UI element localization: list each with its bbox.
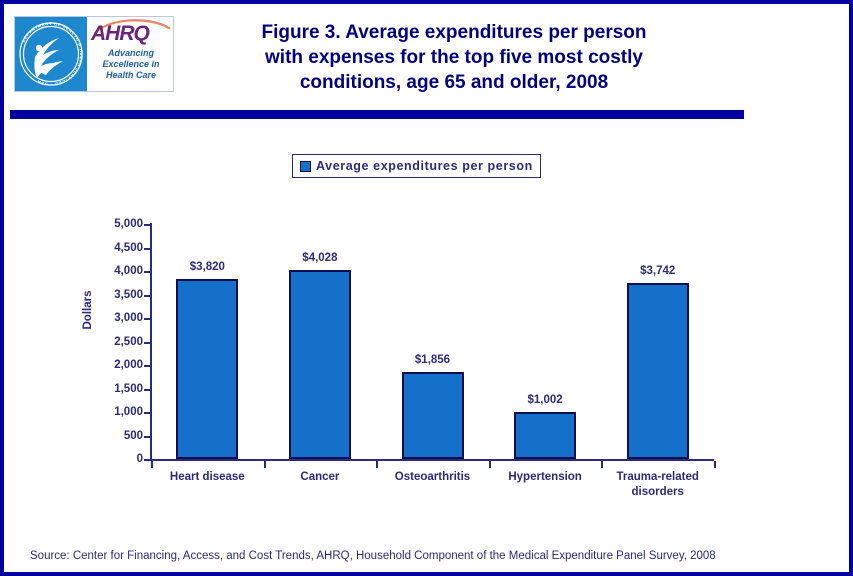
x-axis-category-label: Osteoarthritis xyxy=(373,470,493,485)
y-axis-tick-label: 3,500 xyxy=(99,289,143,301)
y-axis-tick-label: 2,500 xyxy=(99,336,143,348)
x-axis-tick-mark xyxy=(601,461,603,468)
bar xyxy=(402,372,464,459)
y-axis-tick-mark xyxy=(144,248,151,250)
y-axis-title: Dollars xyxy=(82,270,94,350)
y-axis-tick-label: 5,000 xyxy=(99,218,143,230)
y-axis-tick-labels: 5,0004,5004,0003,5003,0002,5002,0001,500… xyxy=(99,4,143,572)
x-axis-category-label: Trauma-relateddisorders xyxy=(598,470,718,500)
y-axis-tick-label: 4,500 xyxy=(99,242,143,254)
y-axis-tick-mark xyxy=(144,412,151,414)
bar-value-label: $3,820 xyxy=(157,261,257,273)
x-axis-tick-mark xyxy=(489,461,491,468)
x-axis-tick-mark xyxy=(714,461,716,468)
y-axis-tick-mark xyxy=(144,459,151,461)
x-axis-category-label-line: Trauma-related xyxy=(598,470,718,485)
y-axis-tick-mark xyxy=(144,436,151,438)
x-axis-category-label-line: Cancer xyxy=(260,470,380,485)
y-axis-tick-label: 1,000 xyxy=(99,406,143,418)
x-axis-category-label-line: Hypertension xyxy=(485,470,605,485)
bar-value-label: $4,028 xyxy=(270,252,370,264)
y-axis-tick-mark xyxy=(144,342,151,344)
y-axis-tick-label: 500 xyxy=(99,430,143,442)
y-axis-tick-mark xyxy=(144,295,151,297)
x-axis-category-label-line: disorders xyxy=(598,485,718,500)
y-axis-tick-label: 4,000 xyxy=(99,265,143,277)
x-axis-category-label: Hypertension xyxy=(485,470,605,485)
y-axis-tick-mark xyxy=(144,271,151,273)
y-axis-tick-label: 3,000 xyxy=(99,312,143,324)
source-note: Source: Center for Financing, Access, an… xyxy=(30,550,716,562)
figure-slide: D E P A R T M E N T O F H E A xyxy=(0,0,853,576)
y-axis-tick-label: 2,000 xyxy=(99,359,143,371)
y-axis-tick-mark xyxy=(144,365,151,367)
bar-value-label: $1,002 xyxy=(495,394,595,406)
y-axis-tick-label: 1,500 xyxy=(99,383,143,395)
y-axis-tick-mark xyxy=(144,389,151,391)
bar-chart-plot: Dollars 5,0004,5004,0003,5003,0002,5002,… xyxy=(4,4,849,572)
x-axis-line xyxy=(150,459,714,461)
x-axis-tick-mark xyxy=(151,461,153,468)
x-axis-category-label-line: Osteoarthritis xyxy=(373,470,493,485)
bar xyxy=(176,279,238,459)
x-axis-tick-mark xyxy=(376,461,378,468)
bar-value-label: $1,856 xyxy=(383,354,483,366)
x-axis-category-label-line: Heart disease xyxy=(147,470,267,485)
bar xyxy=(289,270,351,459)
x-axis-category-label: Heart disease xyxy=(147,470,267,485)
y-axis-tick-label: 0 xyxy=(99,453,143,465)
x-axis-category-label: Cancer xyxy=(260,470,380,485)
y-axis-tick-mark xyxy=(144,224,151,226)
bar xyxy=(514,412,576,459)
bar-value-label: $3,742 xyxy=(608,265,708,277)
bar xyxy=(627,283,689,459)
x-axis-tick-mark xyxy=(264,461,266,468)
y-axis-tick-mark xyxy=(144,318,151,320)
